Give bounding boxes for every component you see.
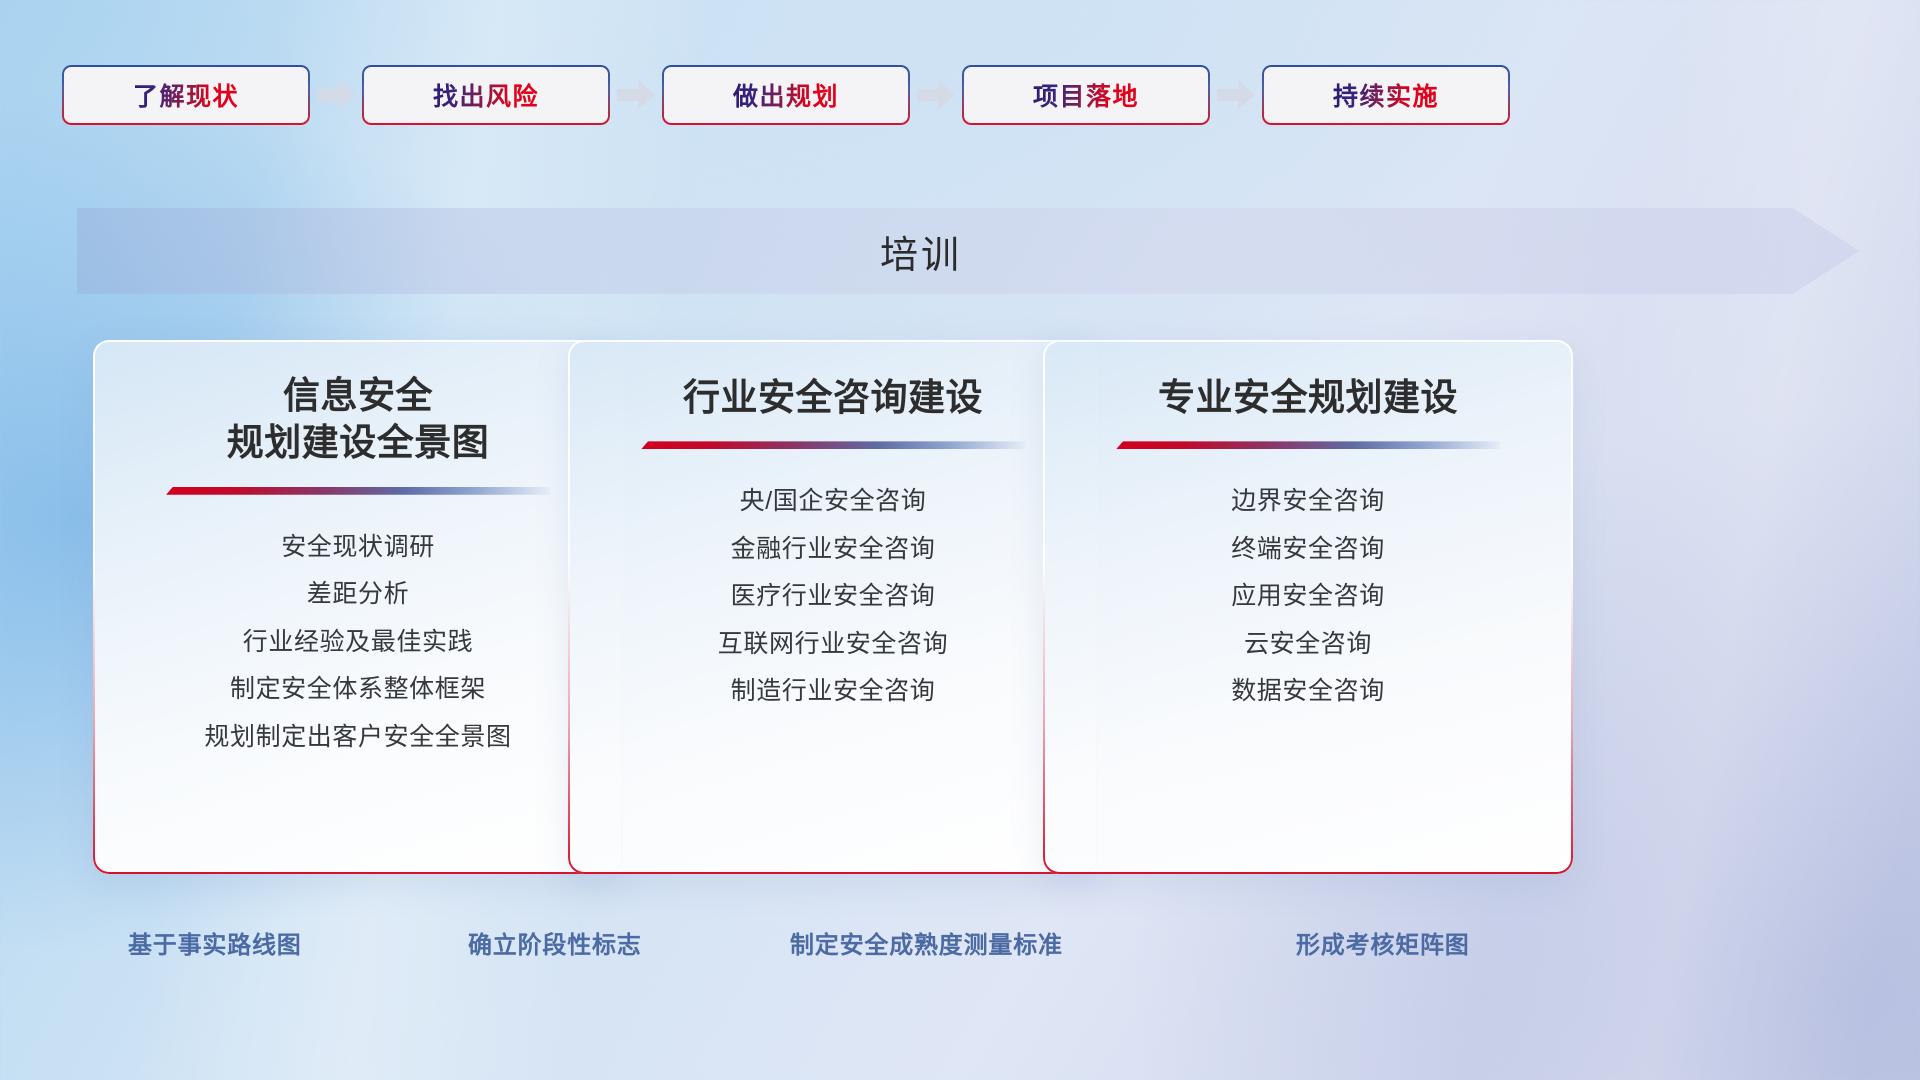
step-box-1[interactable]: 了解现状 (62, 65, 310, 125)
card-2-list: 央/国企安全咨询 金融行业安全咨询 医疗行业安全咨询 互联网行业安全咨询 制造行… (718, 483, 948, 711)
card-1-title: 信息安全 规划建设全景图 (227, 372, 490, 467)
card-3-list: 边界安全咨询 终端安全咨询 应用安全咨询 云安全咨询 数据安全咨询 (1231, 483, 1385, 711)
list-item: 央/国企安全咨询 (740, 483, 927, 521)
list-item: 边界安全咨询 (1231, 483, 1385, 521)
list-item: 差距分析 (307, 576, 409, 614)
step-box-2[interactable]: 找出风险 (362, 65, 610, 125)
list-item: 云安全咨询 (1244, 626, 1372, 664)
footer-caption-row: 基于事实路线图 确立阶段性标志 制定安全成熟度测量标准 形成考核矩阵图 (0, 925, 1920, 977)
card-3-divider (1116, 441, 1500, 449)
card-3-title: 专业安全规划建设 (1158, 374, 1458, 421)
arrow-right-icon (310, 65, 362, 125)
list-item: 应用安全咨询 (1231, 578, 1385, 616)
step-label-1: 了解现状 (133, 77, 239, 113)
process-step-flow: 了解现状 找出风险 做出规划 项目落地 持续实施 (62, 64, 1862, 126)
card-3-title-line-1: 专业安全规划建设 (1158, 374, 1458, 421)
step-box-4[interactable]: 项目落地 (962, 65, 1210, 125)
step-label-2: 找出风险 (433, 77, 539, 113)
card-information-security-blueprint[interactable]: 信息安全 规划建设全景图 安全现状调研 差距分析 行业经验及最佳实践 制定安全体… (93, 340, 623, 874)
arrow-right-icon (610, 65, 662, 125)
list-item: 终端安全咨询 (1231, 531, 1385, 569)
list-item: 数据安全咨询 (1231, 673, 1385, 711)
step-label-4: 项目落地 (1033, 77, 1139, 113)
card-row: 信息安全 规划建设全景图 安全现状调研 差距分析 行业经验及最佳实践 制定安全体… (0, 340, 1920, 874)
card-1-title-line-2: 规划建设全景图 (227, 419, 490, 466)
list-item: 互联网行业安全咨询 (718, 626, 948, 664)
card-1-divider (166, 487, 550, 495)
footer-caption-2: 确立阶段性标志 (468, 925, 642, 960)
training-band-label: 培训 (77, 208, 1859, 294)
list-item: 行业经验及最佳实践 (243, 624, 473, 662)
card-1-title-line-1: 信息安全 (227, 372, 490, 419)
training-arrow-band: 培训 (77, 208, 1859, 294)
step-label-5: 持续实施 (1333, 77, 1439, 113)
arrow-right-icon (1210, 65, 1262, 125)
footer-caption-3: 制定安全成熟度测量标准 (790, 925, 1063, 960)
footer-caption-4: 形成考核矩阵图 (1296, 925, 1470, 960)
card-2-title: 行业安全咨询建设 (683, 374, 983, 421)
card-professional-security-planning[interactable]: 专业安全规划建设 边界安全咨询 终端安全咨询 应用安全咨询 云安全咨询 数据安全… (1043, 340, 1573, 874)
card-1-list: 安全现状调研 差距分析 行业经验及最佳实践 制定安全体系整体框架 规划制定出客户… (204, 529, 511, 757)
card-2-divider (641, 441, 1025, 449)
footer-caption-1: 基于事实路线图 (128, 925, 302, 960)
list-item: 制造行业安全咨询 (731, 673, 936, 711)
card-industry-security-consulting[interactable]: 行业安全咨询建设 央/国企安全咨询 金融行业安全咨询 医疗行业安全咨询 互联网行… (568, 340, 1098, 874)
step-box-5[interactable]: 持续实施 (1262, 65, 1510, 125)
list-item: 制定安全体系整体框架 (230, 671, 486, 709)
list-item: 金融行业安全咨询 (731, 531, 936, 569)
list-item: 规划制定出客户安全全景图 (204, 719, 511, 757)
arrow-right-icon (910, 65, 962, 125)
step-label-3: 做出规划 (733, 77, 839, 113)
step-box-3[interactable]: 做出规划 (662, 65, 910, 125)
list-item: 安全现状调研 (281, 529, 435, 567)
list-item: 医疗行业安全咨询 (731, 578, 936, 616)
card-2-title-line-1: 行业安全咨询建设 (683, 374, 983, 421)
